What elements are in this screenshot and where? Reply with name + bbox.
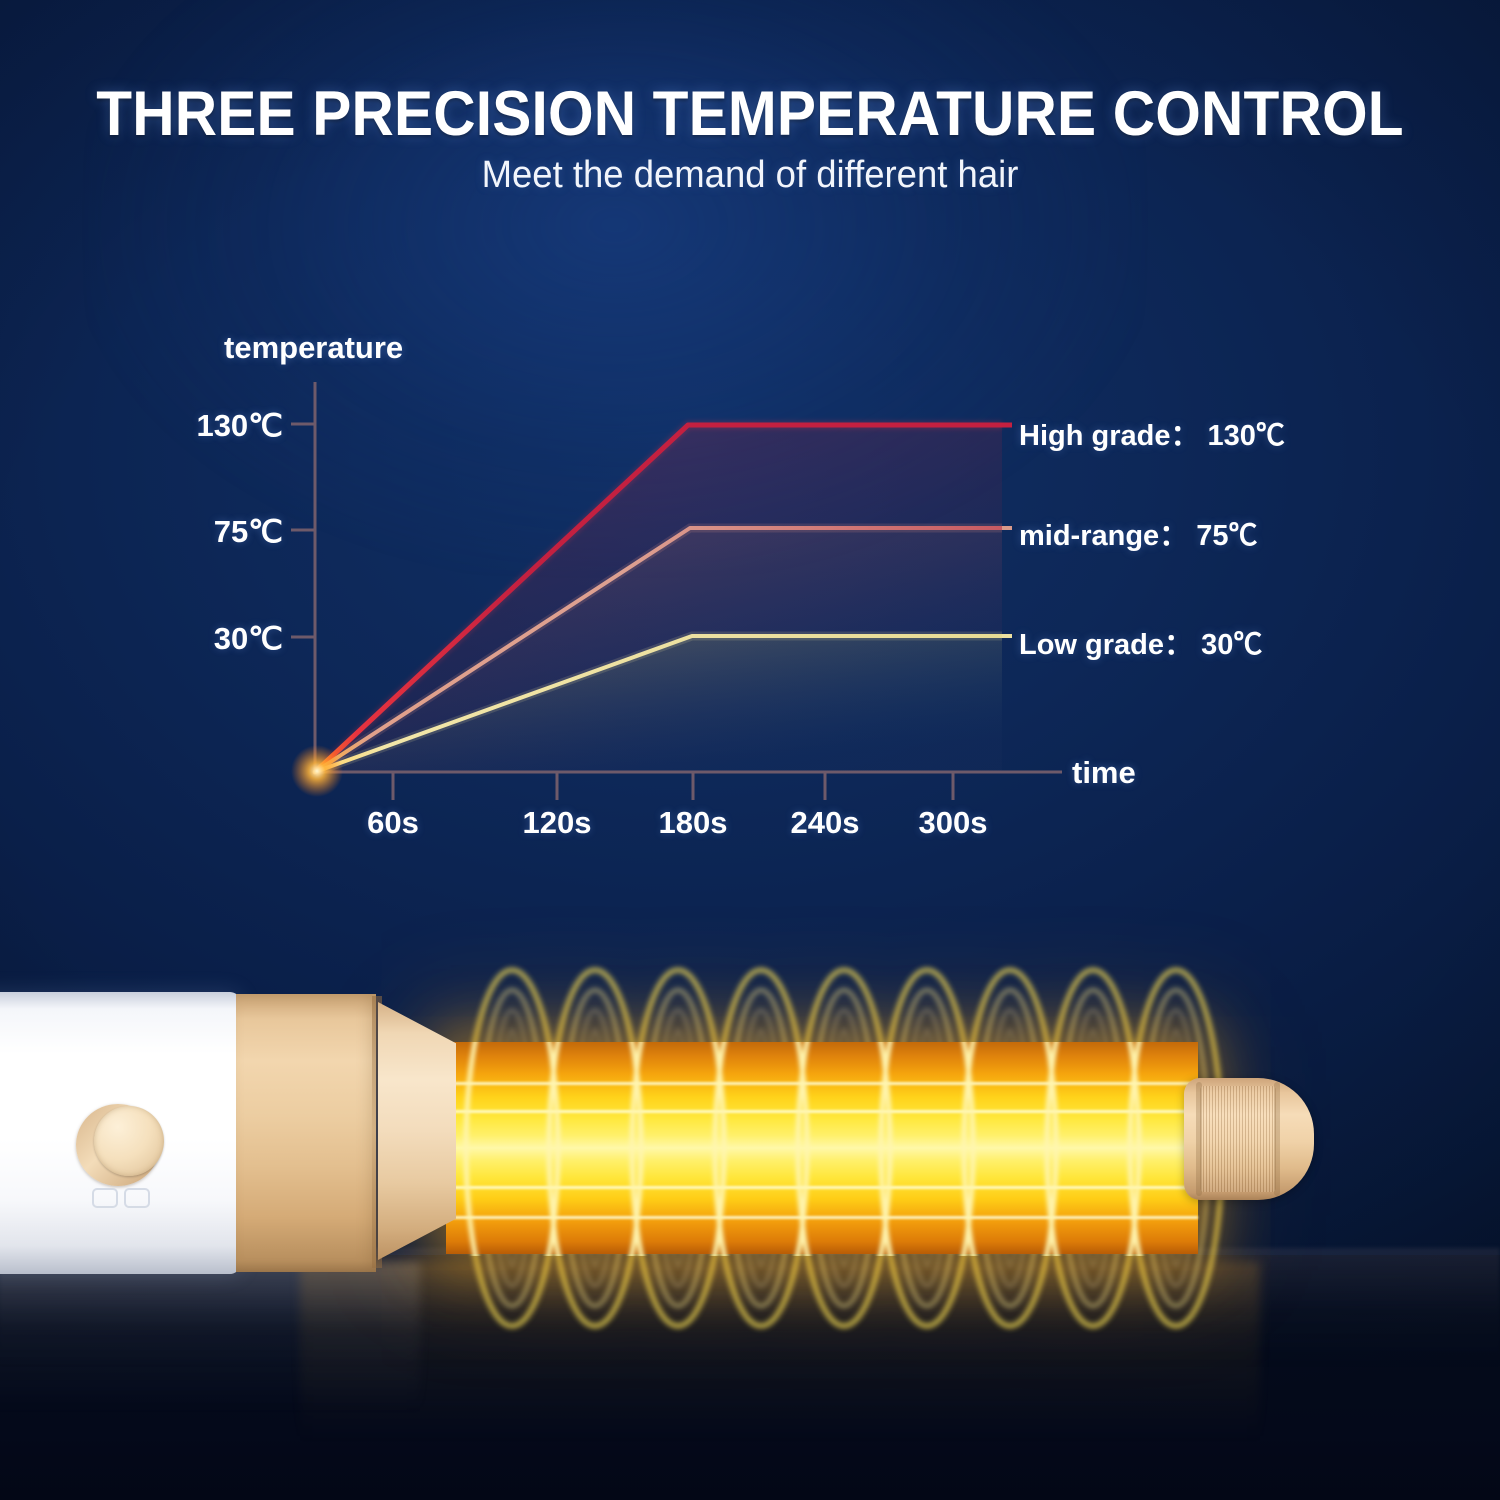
barrel-tip-ring-left xyxy=(1196,1082,1202,1196)
mode-icon-high xyxy=(124,1188,150,1208)
barrel-tip-ribs xyxy=(1200,1086,1276,1192)
mode-icon-low xyxy=(92,1188,118,1208)
handle-neck xyxy=(378,1002,456,1260)
heat-rings-front xyxy=(0,0,1500,1500)
product-infographic: THREE PRECISION TEMPERATURE CONTROL Meet… xyxy=(0,0,1500,1500)
power-button[interactable] xyxy=(94,1106,164,1176)
handle-gold-band xyxy=(236,994,376,1272)
barrel-tip-ring-right xyxy=(1274,1082,1280,1196)
product-curling-iron xyxy=(0,0,1500,1500)
